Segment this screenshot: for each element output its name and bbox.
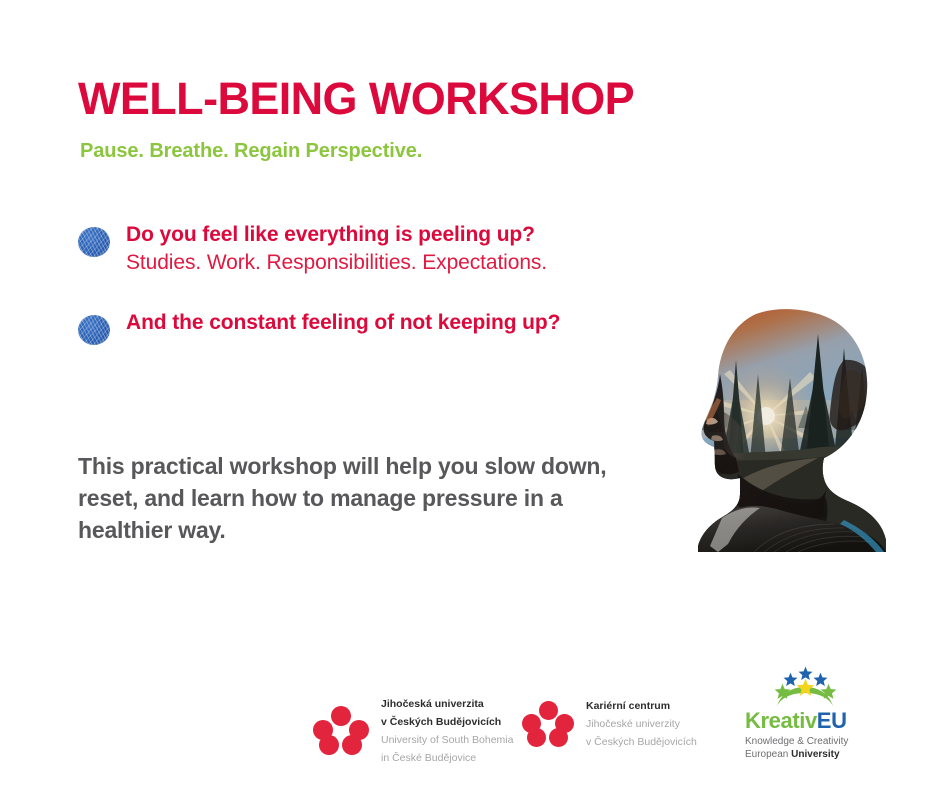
kreativeu-tagline: Knowledge & Creativity European Universi… — [745, 736, 875, 762]
tagline-line-1: Knowledge & Creativity — [745, 736, 875, 749]
bullet-list: Do you feel like everything is peeling u… — [78, 222, 698, 336]
footer-logos: Jihočeská univerzita v Českých Budějovic… — [0, 660, 940, 770]
logo-line: in České Budějovice — [381, 752, 476, 764]
page-title: WELL-BEING WORKSHOP — [78, 76, 634, 121]
logo-career-centre: Kariérní centrum Jihočeské univerzity v … — [522, 696, 697, 750]
five-red-dots-icon — [313, 706, 369, 754]
logo-line: v Českých Budějovicích — [381, 716, 501, 728]
logo-text: Kariérní centrum Jihočeské univerzity v … — [586, 696, 697, 750]
logo-university-of-south-bohemia: Jihočeská univerzita v Českých Budějovic… — [313, 694, 513, 766]
logo-kreativeu: KreativEU Knowledge & Creativity Europea… — [745, 666, 875, 762]
poster-canvas: { "poster": { "title": "WELL-BEING WORKS… — [0, 0, 940, 788]
logo-line: University of South Bohemia — [381, 734, 513, 746]
tagline-european: European — [745, 749, 791, 760]
five-red-dots-icon — [522, 701, 574, 746]
list-item-body: And the constant feeling of not keeping … — [78, 310, 698, 336]
kreativeu-wordmark: KreativEU — [745, 710, 875, 732]
tagline-line-2: European University — [745, 749, 875, 762]
bullet-headline: And the constant feeling of not keeping … — [126, 310, 698, 336]
logo-line: Jihočeská univerzita — [381, 698, 484, 710]
logo-line: Jihočeské univerzity — [586, 718, 680, 730]
list-item: And the constant feeling of not keeping … — [78, 310, 698, 336]
bullet-headline: Do you feel like everything is peeling u… — [126, 222, 698, 248]
tagline-university: University — [791, 749, 839, 760]
list-item: Do you feel like everything is peeling u… — [78, 222, 698, 276]
blue-scribble-circle-icon — [78, 315, 110, 345]
logo-line: v Českých Budějovicích — [586, 736, 697, 748]
double-exposure-portrait-image — [694, 308, 886, 552]
body-paragraph: This practical workshop will help you sl… — [78, 450, 638, 547]
wordmark-eu: EU — [817, 708, 847, 733]
page-subtitle: Pause. Breathe. Regain Perspective. — [80, 141, 422, 161]
list-item-body: Do you feel like everything is peeling u… — [78, 222, 698, 276]
logo-line: Kariérní centrum — [586, 700, 670, 712]
blue-scribble-circle-icon — [78, 227, 110, 257]
bullet-subline: Studies. Work. Responsibilities. Expecta… — [126, 249, 698, 276]
star-cluster-icon — [755, 666, 855, 708]
logo-text: Jihočeská univerzita v Českých Budějovic… — [381, 694, 513, 766]
wordmark-kreativ: Kreativ — [745, 708, 817, 733]
